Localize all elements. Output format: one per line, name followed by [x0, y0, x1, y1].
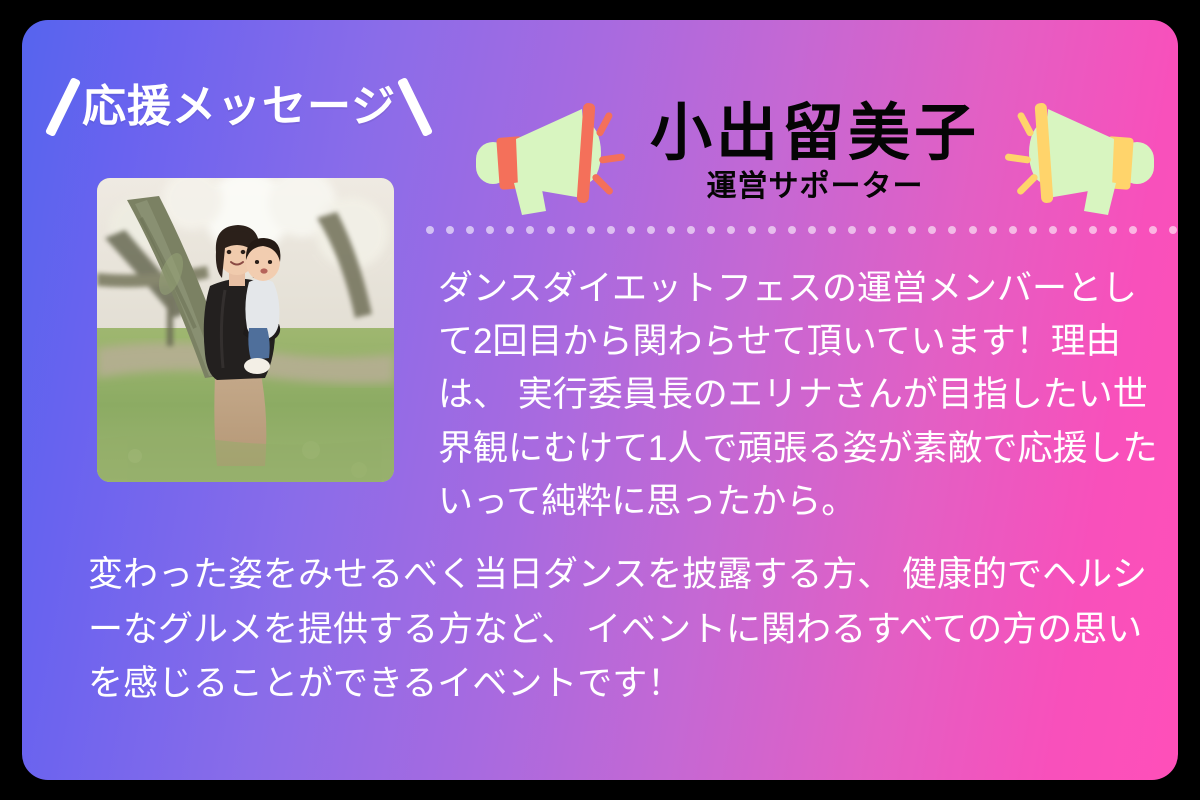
divider-dot [848, 226, 856, 234]
supporter-photo-image [97, 178, 394, 482]
slash-left-icon [45, 77, 81, 137]
divider-dot [948, 226, 956, 234]
dotted-divider [426, 225, 1178, 234]
divider-dot [1109, 226, 1117, 234]
person-name: 小出留美子 [650, 101, 980, 166]
divider-dot [928, 226, 936, 234]
divider-dot [1049, 226, 1057, 234]
divider-dot [446, 226, 454, 234]
divider-dot [1089, 226, 1097, 234]
megaphone-right-icon [990, 87, 1160, 217]
divider-dot [808, 226, 816, 234]
divider-dot [647, 226, 655, 234]
slash-right-icon [397, 77, 433, 137]
divider-dot [727, 226, 735, 234]
divider-dot [1029, 226, 1037, 234]
support-message-badge: 応援メッセージ [58, 72, 420, 142]
support-message-badge-label: 応援メッセージ [82, 85, 396, 129]
divider-dot [768, 226, 776, 234]
divider-dot [486, 226, 494, 234]
divider-dot [587, 226, 595, 234]
divider-dot [1009, 226, 1017, 234]
divider-dot [707, 226, 715, 234]
divider-dot [908, 226, 916, 234]
divider-dot [567, 226, 575, 234]
divider-dot [506, 226, 514, 234]
divider-dot [526, 226, 534, 234]
support-message-card: 応援メッセージ [22, 20, 1178, 780]
divider-dot [1069, 226, 1077, 234]
divider-dot [687, 226, 695, 234]
divider-dot [868, 226, 876, 234]
divider-dot [748, 226, 756, 234]
screenshot-stage: 応援メッセージ [0, 0, 1200, 800]
divider-dot [627, 226, 635, 234]
divider-dot [426, 226, 434, 234]
megaphone-left-icon [470, 87, 640, 217]
divider-dot [1169, 226, 1177, 234]
divider-dot [788, 226, 796, 234]
divider-dot [547, 226, 555, 234]
divider-dot [969, 226, 977, 234]
divider-dot [466, 226, 474, 234]
supporter-photo [97, 178, 394, 482]
divider-dot [1129, 226, 1137, 234]
divider-dot [989, 226, 997, 234]
person-role: 運営サポーター [706, 170, 923, 203]
divider-dot [607, 226, 615, 234]
divider-dot [828, 226, 836, 234]
person-name-block: 小出留美子 運営サポーター [452, 82, 1178, 222]
divider-dot [888, 226, 896, 234]
divider-dot [1149, 226, 1157, 234]
name-and-role: 小出留美子 運営サポーター [650, 101, 980, 203]
message-paragraph-2: 変わった姿をみせるべく当日ダンスを披露する方、 健康的でヘルシーなグルメを提供す… [88, 548, 1168, 712]
message-paragraph-1: ダンスダイエットフェスの運営メンバーとして2回目から関わらせて頂いています！理由… [438, 262, 1166, 528]
divider-dot [667, 226, 675, 234]
